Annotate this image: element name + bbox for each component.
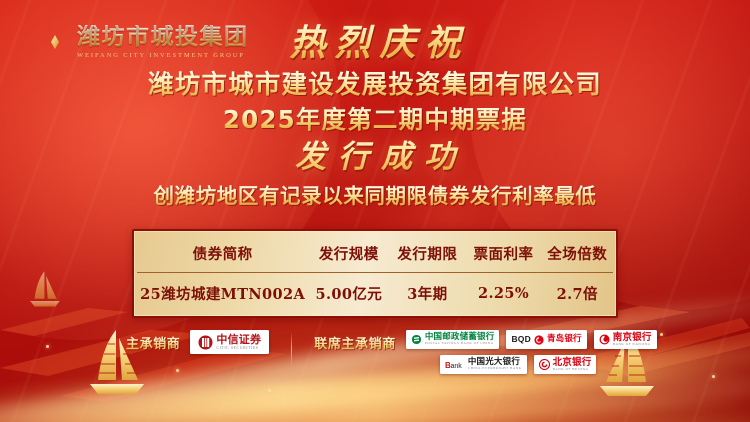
cell-bond-name: 25潍坊城建MTN002A (137, 273, 308, 314)
bond-table: 债券简称 发行规模 发行期限 票面利率 全场倍数 25潍坊城建MTN002A 5… (137, 234, 613, 313)
underwriter-name-en: BQD (511, 335, 531, 344)
column-header-coupon-rate: 票面利率 (465, 234, 541, 273)
column-header-issue-term: 发行期限 (389, 234, 465, 273)
svg-text:ank: ank (450, 363, 462, 370)
company-logo: 潍坊市城投集团 WEIFANG CITY INVESTMENT GROUP (24, 20, 249, 64)
joint-underwriter-label: 联席主承销商 (314, 333, 396, 352)
underwriter-logo-qingdao-bank: BQD 青岛银行 (506, 330, 586, 349)
joint-underwriter-row-1: 中国邮政储蓄银行 POSTAL SAVINGS BANK OF CHINA BQ… (406, 330, 657, 349)
logo-company-name-en: WEIFANG CITY INVESTMENT GROUP (77, 52, 249, 59)
joint-underwriter-group: 联席主承销商 中国邮政储蓄银行 POSTAL SAVINGS BANK OF C… (314, 330, 656, 374)
underwriter-name-en: CITIC SECURITIES (216, 346, 261, 350)
underwriters-section: 主承销商 中信证券 CITIC SECURITIES 联席主承销商 (0, 320, 750, 380)
table-row: 25潍坊城建MTN002A 5.00亿元 3年期 2.25% 2.7倍 (137, 273, 613, 314)
underwriter-name-en: POSTAL SAVINGS BANK OF CHINA (425, 342, 495, 346)
postal-savings-mark-icon (411, 334, 422, 345)
underwriter-name-en: BANK OF NANJING (613, 343, 652, 347)
everbright-bank-mark-icon: B ank (445, 360, 462, 370)
underwriter-name-cn: 中信证券 (216, 334, 261, 346)
celebration-banner: 潍坊市城投集团 WEIFANG CITY INVESTMENT GROUP 热烈… (0, 0, 750, 422)
headline-issue-name: 2025年度第二期中期票据 (223, 105, 527, 135)
underwriter-logo-beijing-bank: 北京银行 BANK OF BEIJING (534, 355, 597, 374)
column-header-bid-multiple: 全场倍数 (542, 234, 613, 273)
bond-info-panel: 债券简称 发行规模 发行期限 票面利率 全场倍数 25潍坊城建MTN002A 5… (132, 229, 618, 318)
column-header-bond-name: 债券简称 (137, 234, 308, 273)
crescent-wave-emblem-icon (24, 20, 68, 64)
underwriter-divider (291, 332, 292, 366)
underwriter-logo-everbright-bank: B ank 中国光大银行 CHINA EVERBRIGHT BANK (440, 355, 527, 374)
column-header-issue-size: 发行规模 (308, 234, 389, 273)
nanjing-bank-mark-icon (599, 334, 610, 345)
lead-underwriter-label: 主承销商 (126, 333, 180, 352)
headline-tagline: 创潍坊地区有记录以来同期限债券发行利率最低 (153, 184, 596, 209)
joint-underwriter-row-2: B ank 中国光大银行 CHINA EVERBRIGHT BANK (440, 355, 657, 374)
cell-coupon-rate: 2.25% (465, 273, 541, 314)
beijing-bank-mark-icon (539, 359, 550, 370)
headline-celebrate: 热烈庆祝 (280, 22, 469, 64)
table-header-row: 债券简称 发行规模 发行期限 票面利率 全场倍数 (137, 234, 613, 273)
citic-mark-icon (198, 335, 213, 350)
lead-underwriter-group: 主承销商 中信证券 CITIC SECURITIES (126, 330, 269, 354)
headline-success: 发行成功 (283, 139, 467, 176)
underwriter-logo-postal-savings: 中国邮政储蓄银行 POSTAL SAVINGS BANK OF CHINA (406, 330, 500, 349)
cell-issue-term: 3年期 (389, 273, 465, 314)
golden-sailboat-icon (28, 270, 62, 310)
underwriter-logo-nanjing-bank: 南京银行 BANK OF NANJING (594, 330, 657, 349)
logo-company-name-cn: 潍坊市城投集团 (77, 25, 249, 49)
cell-bid-multiple: 2.7倍 (542, 273, 613, 314)
sparkle-dot (268, 389, 271, 392)
qingdao-bank-mark-icon (534, 335, 544, 345)
underwriter-logo-citic: 中信证券 CITIC SECURITIES (190, 330, 269, 354)
underwriter-name-en: CHINA EVERBRIGHT BANK (468, 367, 522, 371)
headline-company-name: 潍坊市城市建设发展投资集团有限公司 (148, 70, 602, 101)
underwriter-name-en: BANK OF BEIJING (553, 368, 592, 372)
cell-issue-size: 5.00亿元 (308, 273, 389, 314)
underwriter-name-cn: 青岛银行 (547, 335, 582, 344)
